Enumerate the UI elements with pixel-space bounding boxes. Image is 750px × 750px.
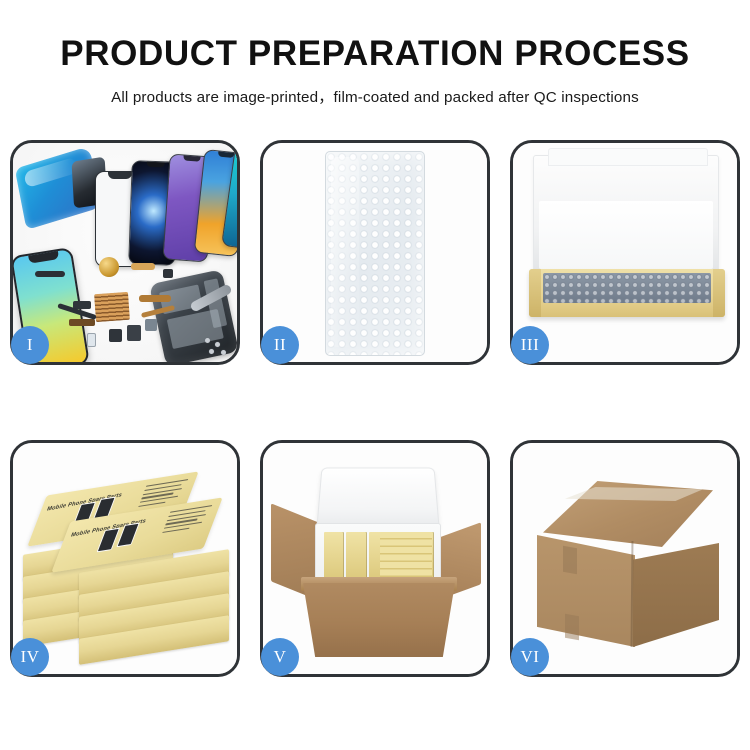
bubble-wrapped-contents-icon: [543, 273, 711, 303]
step-image-sealed-carton: [513, 443, 737, 674]
yellow-box-tray-icon: [529, 269, 725, 317]
step-badge-5: V: [261, 638, 299, 676]
box-stack-group: Mobile Phone Spare Parts Mobile Phone Sp…: [23, 465, 231, 655]
foam-sheet-icon: [539, 201, 713, 269]
antenna-flex-icon: [131, 263, 155, 270]
screws-icon: [205, 338, 229, 356]
ic-chip-icon: [109, 329, 122, 342]
step-panel-6[interactable]: VI: [510, 440, 740, 677]
carton-left-face: [537, 535, 635, 647]
carton-right-face: [633, 543, 719, 647]
foam-case-icon: [315, 523, 441, 585]
copper-mesh-icon: [94, 292, 130, 322]
bag-highlight: [331, 157, 359, 347]
earpiece-speaker-icon: [35, 271, 65, 277]
step-image-raw-parts: [13, 143, 237, 362]
packing-tape-lower-icon: [565, 614, 579, 640]
flex-strip-icon: [139, 295, 171, 302]
carton-body-icon: [303, 583, 455, 657]
step-badge-3: III: [511, 326, 549, 364]
page-subtitle: All products are image-printed，film-coat…: [0, 85, 750, 107]
step-badge-4: IV: [11, 638, 49, 676]
yellow-boxes-block-icon: [380, 532, 432, 578]
step-panel-4[interactable]: Mobile Phone Spare Parts Mobile Phone Sp…: [10, 440, 240, 677]
adhesive-film-icon: [15, 146, 101, 230]
button-component-icon: [145, 319, 157, 331]
header: PRODUCT PREPARATION PROCESS All products…: [0, 0, 750, 107]
step-badge-2: II: [261, 326, 299, 364]
bubble-bag-group: [325, 151, 425, 356]
step-badge-6: VI: [511, 638, 549, 676]
page-title: PRODUCT PREPARATION PROCESS: [0, 34, 750, 74]
step-image-carton-filling: [263, 443, 487, 674]
step-image-inner-box: [513, 143, 737, 362]
step-panel-1[interactable]: I: [10, 140, 240, 365]
product-preparation-infographic: PRODUCT PREPARATION PROCESS All products…: [0, 0, 750, 750]
vibrator-motor-icon: [127, 325, 141, 341]
foam-lid-icon: [316, 468, 439, 530]
step-panel-3[interactable]: III: [510, 140, 740, 365]
step-badge-1: I: [11, 326, 49, 364]
flex-cable-gold-icon: [69, 319, 95, 326]
step-image-bubble-wrap: [263, 143, 487, 362]
packing-tape-upper-icon: [563, 546, 577, 574]
small-chip-icon: [163, 269, 173, 278]
camera-module-icon: [99, 257, 119, 277]
steps-grid: I II: [10, 140, 740, 677]
sim-tray-icon: [87, 333, 96, 347]
step-panel-5[interactable]: V: [260, 440, 490, 677]
step-image-stacked-boxes: Mobile Phone Spare Parts Mobile Phone Sp…: [13, 443, 237, 674]
phone-fan-group: [95, 149, 237, 269]
step-panel-2[interactable]: II: [260, 140, 490, 365]
